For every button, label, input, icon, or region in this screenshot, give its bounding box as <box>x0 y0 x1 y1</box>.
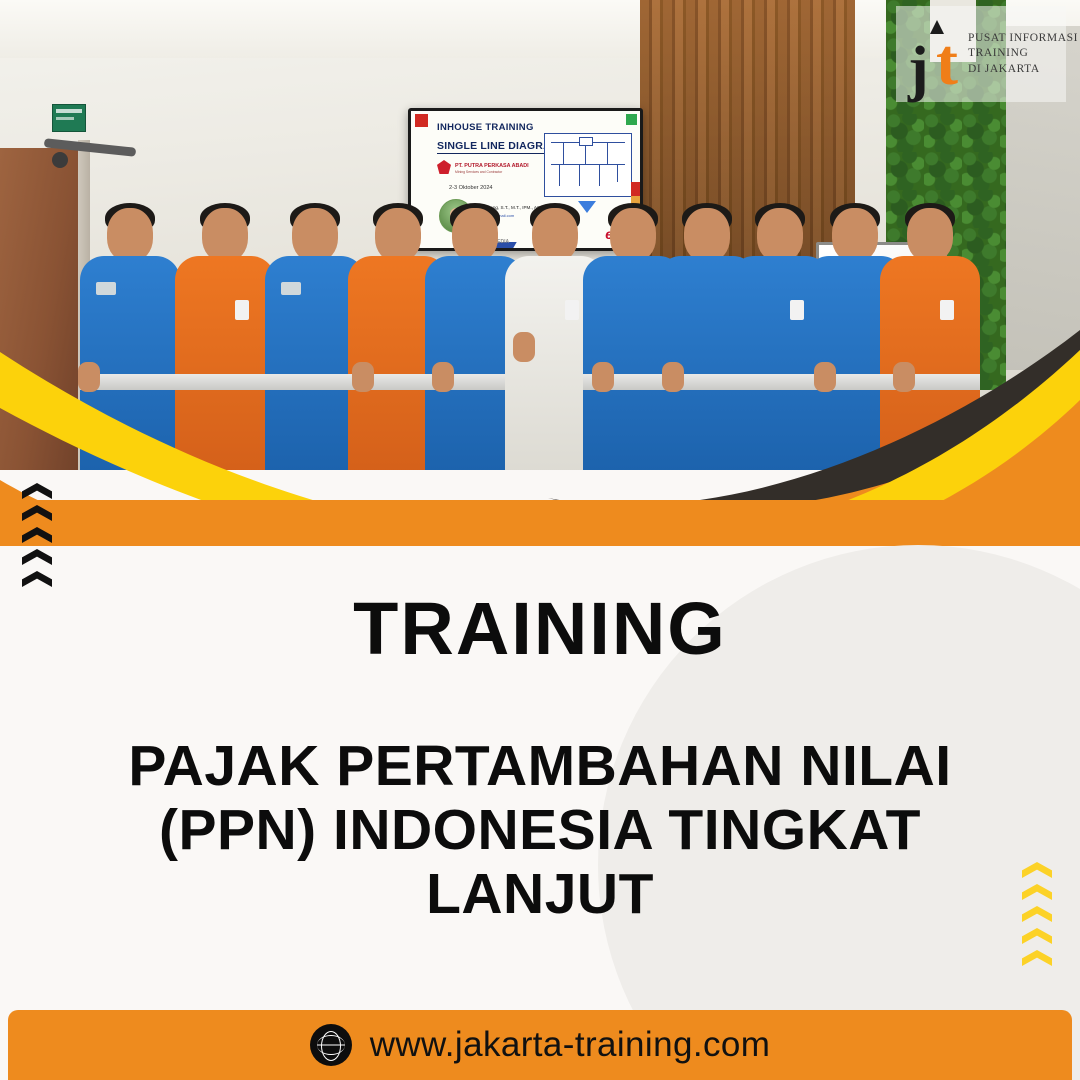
id-card <box>565 300 579 320</box>
chevron-up-icon <box>1022 906 1052 922</box>
participant-head <box>375 208 421 262</box>
chevron-up-icon <box>22 549 52 565</box>
slide-title-1: INHOUSE TRAINING <box>437 122 534 133</box>
chevron-up-icon <box>22 571 52 587</box>
participant-head <box>610 208 656 262</box>
page-title-eyebrow: TRAINING <box>0 586 1080 671</box>
id-card <box>940 300 954 320</box>
participant-head <box>292 208 338 262</box>
participant-head <box>832 208 878 262</box>
id-card <box>235 300 249 320</box>
brand-logo[interactable]: j t PUSAT INFORMASI TRAINING DI JAKARTA <box>896 6 1066 102</box>
logo-letter-t: t <box>936 30 958 96</box>
website-url[interactable]: www.jakarta-training.com <box>370 1025 771 1065</box>
logo-wordmark: PUSAT INFORMASI TRAINING DI JAKARTA <box>968 31 1078 77</box>
company-logo-icon <box>437 160 451 174</box>
chevron-up-icon <box>1022 862 1052 878</box>
participant-head <box>684 208 730 262</box>
slide-green-marker <box>626 114 637 125</box>
participant-head <box>907 208 953 262</box>
single-line-diagram <box>544 133 632 197</box>
chevron-up-icon <box>1022 928 1052 944</box>
logo-line-3: DI JAKARTA <box>968 62 1078 77</box>
participant-head <box>452 208 498 262</box>
orange-band-solid <box>0 500 1080 546</box>
participant-head <box>202 208 248 262</box>
slide-date: 2-3 Oktober 2024 <box>449 185 493 191</box>
logo-line-2: TRAINING <box>968 46 1078 61</box>
chevron-up-icon <box>22 527 52 543</box>
participant-head <box>107 208 153 262</box>
chevron-up-icon <box>1022 884 1052 900</box>
chevron-up-icon <box>22 483 52 499</box>
globe-icon <box>310 1024 352 1066</box>
chevron-up-icon <box>22 505 52 521</box>
chevron-group-left <box>22 483 56 593</box>
footer-bar: www.jakarta-training.com <box>8 1010 1072 1080</box>
slide-company: PT. PUTRA PERKASA ABADI <box>455 163 529 169</box>
slide-red-marker <box>415 114 428 127</box>
participant-head <box>532 208 578 262</box>
emergency-exit-sign <box>52 104 86 132</box>
page-title-headline: PAJAK PERTAMBAHAN NILAI (PPN) INDONESIA … <box>60 735 1020 926</box>
chevron-group-right <box>1022 862 1056 972</box>
participant-head <box>757 208 803 262</box>
uniform-badge <box>281 282 301 295</box>
chevron-up-icon <box>1022 950 1052 966</box>
door-hinge <box>52 152 68 168</box>
slide-company-sub: Mining Services and Contractor <box>455 170 502 174</box>
logo-letter-j: j <box>908 38 929 100</box>
uniform-badge <box>96 282 116 295</box>
logo-mark-jt: j t <box>902 12 964 96</box>
logo-line-1: PUSAT INFORMASI <box>968 31 1078 46</box>
poster-canvas: INHOUSE TRAINING SINGLE LINE DIAGRAM WIT… <box>0 0 1080 1080</box>
